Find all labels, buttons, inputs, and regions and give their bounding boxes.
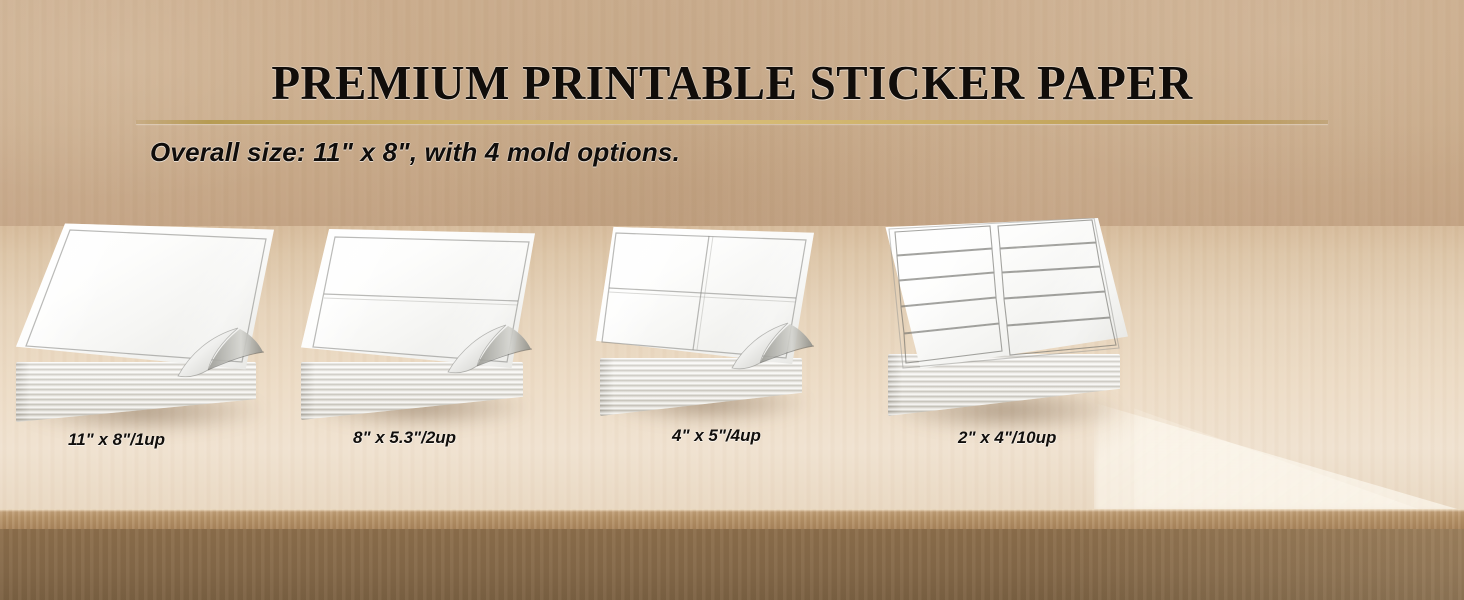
table-edge-highlight — [0, 509, 1464, 512]
product-stack-10up[interactable]: 2" x 4"/10up — [872, 218, 1142, 428]
size-label-10up: 2" x 4"/10up — [958, 428, 1056, 448]
size-label-4up: 4" x 5"/4up — [672, 426, 761, 446]
size-label-2up: 8" x 5.3"/2up — [353, 428, 456, 448]
sheet-gloss-highlight — [301, 226, 535, 374]
product-stack-2up[interactable]: 8" x 5.3"/2up — [295, 222, 545, 427]
table-edge — [0, 509, 1464, 529]
product-stack-4up[interactable]: 4" x 5"/4up — [594, 222, 824, 427]
sheet-gloss-highlight — [878, 218, 1128, 370]
under-table-shadow-area — [0, 529, 1464, 600]
subtitle: Overall size: 11" x 8", with 4 mold opti… — [150, 137, 680, 168]
stack-edge-cap — [301, 362, 315, 420]
stack-edge-cap — [16, 362, 30, 422]
sheet-gloss-highlight — [596, 224, 814, 370]
top-sheet — [301, 226, 535, 374]
table-edge-grain — [0, 509, 1464, 529]
under-table-light — [1044, 529, 1464, 600]
product-banner: PREMIUM PRINTABLE STICKER PAPER Overall … — [0, 0, 1464, 600]
stack-edge-cap — [600, 358, 614, 416]
top-sheet — [878, 218, 1128, 370]
gold-divider-rule — [136, 120, 1328, 124]
page-title: PREMIUM PRINTABLE STICKER PAPER — [29, 54, 1434, 111]
product-stack-1up[interactable]: 11" x 8"/1up — [8, 222, 288, 427]
size-label-1up: 11" x 8"/1up — [68, 430, 165, 450]
top-sheet — [596, 224, 814, 370]
wall-background — [0, 0, 1464, 226]
wall-light-blotches — [0, 0, 1464, 226]
stack-edge-cap — [888, 354, 902, 416]
